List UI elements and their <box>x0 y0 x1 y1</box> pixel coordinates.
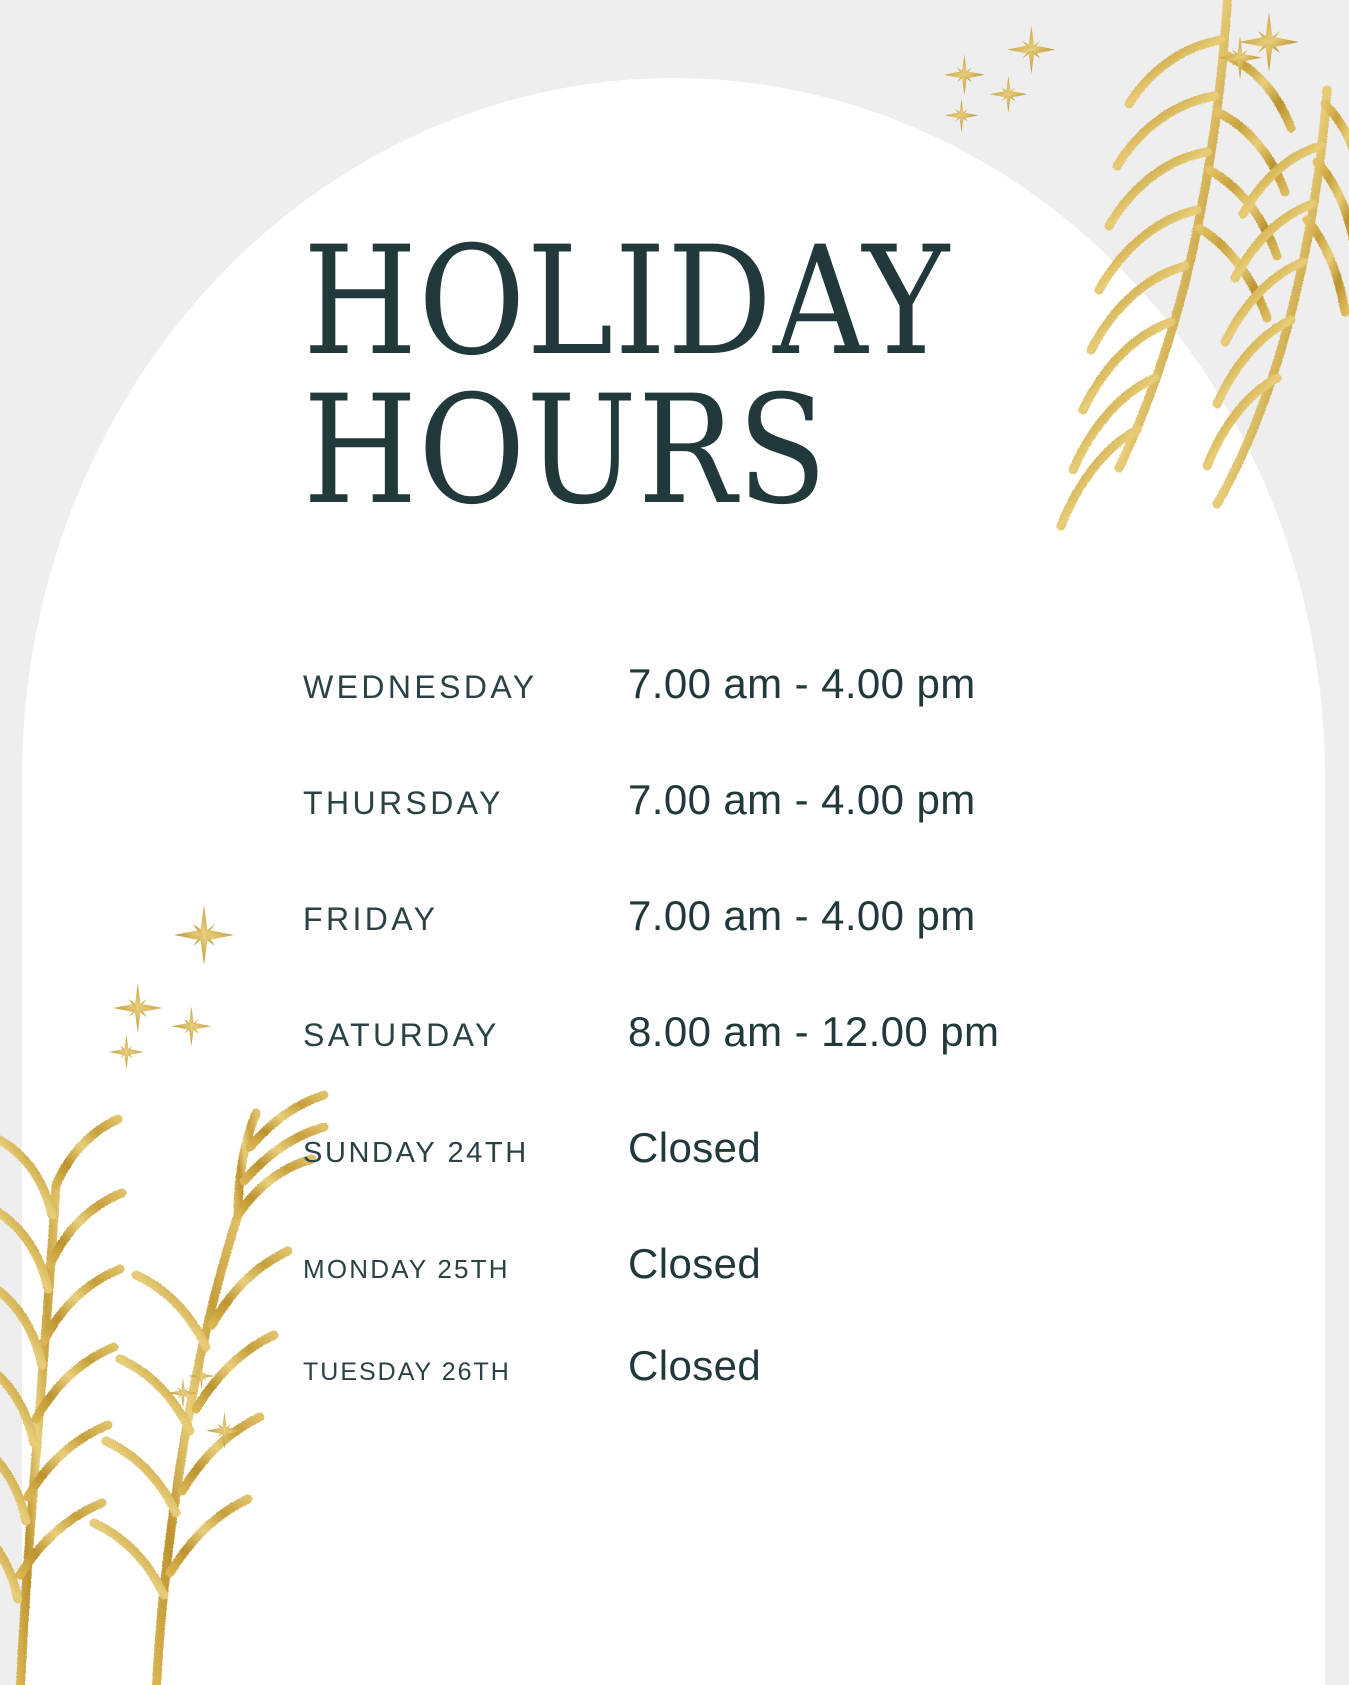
hours-row-time: Closed <box>628 1240 761 1288</box>
hours-list: WEDNESDAY 7.00 am - 4.00 pm THURSDAY 7.0… <box>303 660 1123 1442</box>
hours-row-day: SATURDAY <box>303 1017 628 1054</box>
hours-row-day: MONDAY 25TH <box>303 1254 628 1285</box>
hours-row-day: SUNDAY 24TH <box>303 1137 628 1170</box>
hours-row-day: THURSDAY <box>303 785 628 822</box>
hours-row-time: 7.00 am - 4.00 pm <box>628 892 976 940</box>
page-title-line-1: HOLIDAY <box>303 228 1040 377</box>
hours-row: TUESDAY 26TH Closed <box>303 1342 1123 1442</box>
hours-row-day: FRIDAY <box>303 901 628 938</box>
hours-row: FRIDAY 7.00 am - 4.00 pm <box>303 892 1123 1008</box>
hours-row: MONDAY 25TH Closed <box>303 1240 1123 1342</box>
hours-row-day: TUESDAY 26TH <box>303 1358 628 1387</box>
hours-row: THURSDAY 7.00 am - 4.00 pm <box>303 776 1123 892</box>
poster-content: HOLIDAY HOURS WEDNESDAY 7.00 am - 4.00 p… <box>0 0 1349 1685</box>
hours-row: SUNDAY 24TH Closed <box>303 1124 1123 1240</box>
holiday-hours-poster: HOLIDAY HOURS WEDNESDAY 7.00 am - 4.00 p… <box>0 0 1349 1685</box>
hours-row-time: Closed <box>628 1124 761 1172</box>
hours-row: SATURDAY 8.00 am - 12.00 pm <box>303 1008 1123 1124</box>
hours-row-time: Closed <box>628 1342 761 1390</box>
hours-row-time: 8.00 am - 12.00 pm <box>628 1008 999 1056</box>
page-title: HOLIDAY HOURS <box>303 228 1040 525</box>
hours-row: WEDNESDAY 7.00 am - 4.00 pm <box>303 660 1123 776</box>
page-title-line-2: HOURS <box>303 377 1040 526</box>
hours-row-day: WEDNESDAY <box>303 669 628 706</box>
hours-row-time: 7.00 am - 4.00 pm <box>628 776 976 824</box>
hours-row-time: 7.00 am - 4.00 pm <box>628 660 976 708</box>
